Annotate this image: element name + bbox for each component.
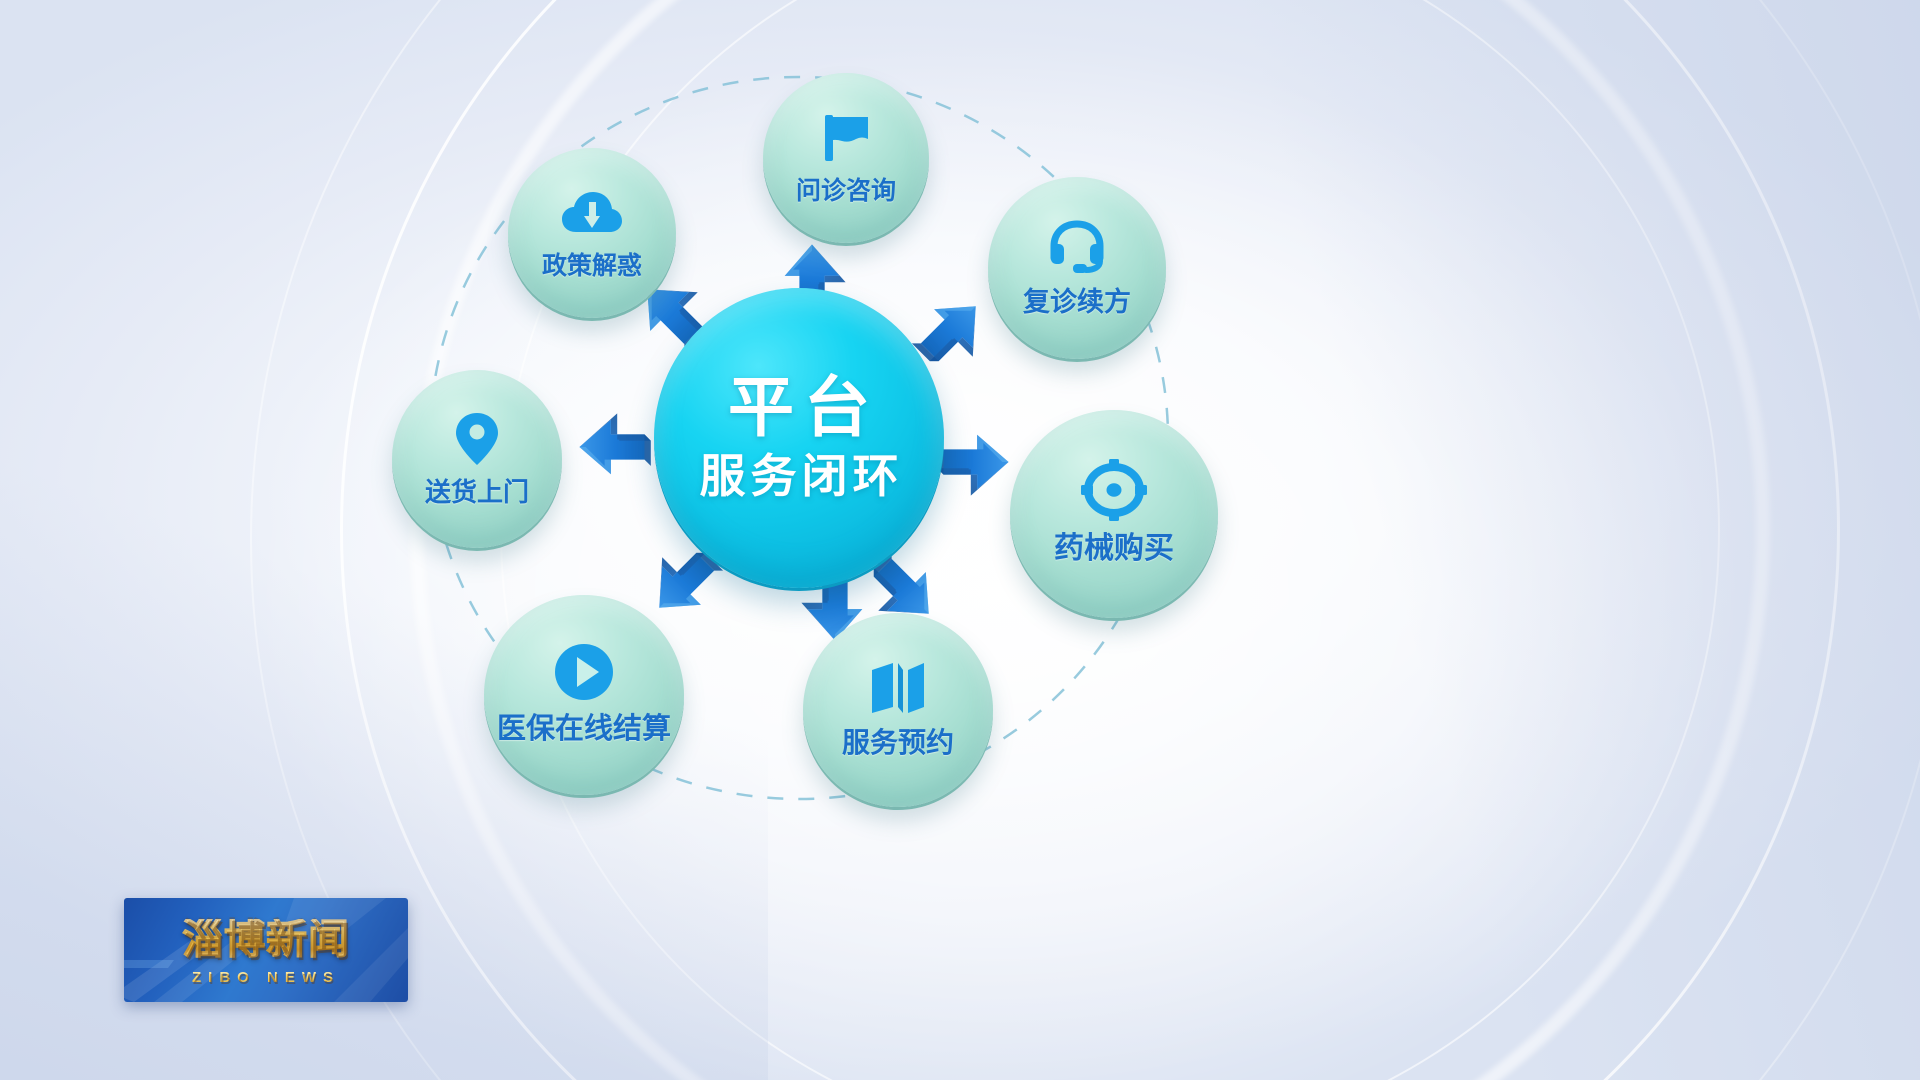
node-drug-device-purchase[interactable]: 药械购买 [1010, 410, 1218, 618]
hub-title-line2: 服务闭环 [700, 451, 904, 503]
node-label: 复诊续方 [1023, 280, 1131, 319]
node-insurance-online-settlement[interactable]: 医保在线结算 [484, 595, 684, 795]
node-home-delivery[interactable]: 送货上门 [392, 370, 562, 548]
cloud-download-icon [560, 184, 624, 242]
node-followup-prescription[interactable]: 复诊续方 [988, 177, 1166, 359]
node-label: 服务预约 [842, 721, 954, 761]
node-policy-explanation[interactable]: 政策解惑 [508, 148, 676, 318]
hub-title-line1: 平台 [728, 374, 880, 441]
node-label: 问诊咨询 [796, 171, 896, 207]
hub-platform-circle[interactable]: 平台 服务闭环 [654, 288, 944, 588]
infographic-stage: 平台 服务闭环 问诊咨询 复诊续方 [0, 0, 1920, 1080]
logo-english-title: ZIBO NEWS [192, 969, 340, 986]
crosshair-target-icon [1081, 461, 1147, 519]
node-consultation-inquiry[interactable]: 问诊咨询 [763, 73, 929, 243]
folded-map-icon [868, 659, 928, 717]
play-circle-icon [553, 643, 615, 701]
logo-chinese-title: 淄博新闻 [182, 919, 350, 960]
node-label: 政策解惑 [542, 246, 642, 282]
flag-icon [816, 109, 876, 167]
arrow-left [579, 413, 650, 474]
arrow-right [937, 435, 1008, 496]
node-label: 医保在线结算 [497, 705, 671, 747]
node-label: 送货上门 [425, 472, 529, 509]
node-label: 药械购买 [1054, 523, 1174, 567]
broadcaster-logo: 淄博新闻 ZIBO NEWS [124, 898, 408, 1002]
location-pin-icon [453, 410, 501, 468]
node-service-appointment[interactable]: 服务预约 [803, 613, 993, 807]
headset-icon [1046, 218, 1108, 276]
